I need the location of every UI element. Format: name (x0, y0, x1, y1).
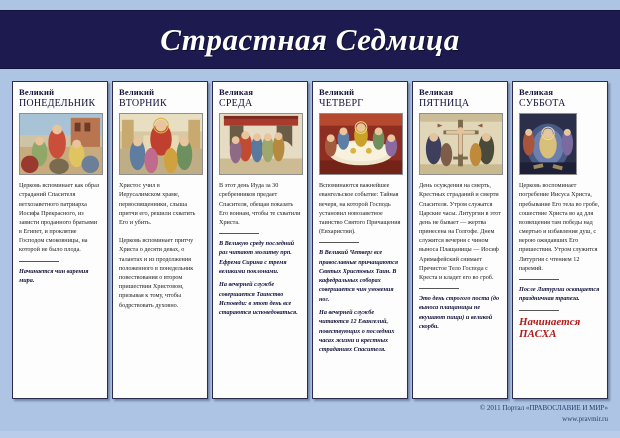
bottom-margin-strip (0, 431, 620, 438)
day-note-1: В Великую среду последний раз читают мол… (219, 239, 301, 276)
divider (219, 233, 259, 234)
poster-root: Страстная Седмица Великий ПОНЕДЕЛЬНИК (0, 0, 620, 438)
copyright-text: © 2011 Портал «ПРАВОСЛАВИЕ И МИР» (480, 403, 608, 414)
day-description: Христос учил в Иерусалимском храме, перв… (119, 181, 201, 309)
day-card-friday[interactable]: Великая ПЯТНИЦА (412, 81, 508, 399)
day-qualifier: Великий (19, 88, 101, 98)
day-name: ПОНЕДЕЛЬНИК (19, 98, 101, 110)
day-card-saturday[interactable]: Великая СУББОТА (512, 81, 608, 399)
day-name: СУББОТА (519, 98, 601, 110)
divider (19, 261, 59, 262)
day-card-thursday[interactable]: Великий ЧЕТВЕРГ (312, 81, 408, 399)
divider (419, 288, 459, 289)
day-columns: Великий ПОНЕДЕЛЬНИК (0, 69, 620, 399)
footer: © 2011 Портал «ПРАВОСЛАВИЕ И МИР» www.pr… (480, 403, 608, 424)
day-heading: Великий ЧЕТВЕРГ (319, 88, 401, 109)
day-qualifier: Великий (319, 88, 401, 98)
day-qualifier: Великая (519, 88, 601, 98)
day-description: День осуждения на смерть, Крестных страд… (419, 181, 501, 282)
day-note-2: На вечерней службе совершается Таинство … (219, 280, 301, 317)
day-description: Вспоминаются важнейшее евангельское собы… (319, 181, 401, 236)
day-description: В этот день Иуда за 30 сребренников пред… (219, 181, 301, 227)
page-title: Страстная Седмица (160, 22, 460, 58)
divider (519, 279, 559, 280)
day-note-1: В Великий Четверг все православные прича… (319, 248, 401, 304)
mystical-supper-last-supper-icon (319, 113, 403, 175)
day-card-monday[interactable]: Великий ПОНЕДЕЛЬНИК (12, 81, 108, 399)
top-margin-strip (0, 0, 620, 10)
day-qualifier: Великая (219, 88, 301, 98)
pascha-announcement: Начинается ПАСХА (519, 316, 601, 341)
divider (319, 242, 359, 243)
website-url[interactable]: www.pravmir.ru (480, 414, 608, 425)
day-heading: Великий ВТОРНИК (119, 88, 201, 109)
day-note: Начинается чин варения мира. (19, 267, 101, 286)
day-note: Это день строгого поста (до выноса плаща… (419, 294, 501, 331)
title-bar: Страстная Седмица (0, 10, 620, 69)
day-description: Церковь вспоминает как образ страданий С… (19, 181, 101, 254)
divider-2 (519, 310, 559, 311)
crucifixion-icon (419, 113, 503, 175)
day-card-tuesday[interactable]: Великий ВТОРНИК (112, 81, 208, 399)
day-heading: Великая СУББОТА (519, 88, 601, 109)
day-name: СРЕДА (219, 98, 301, 110)
day-note-2: На вечерней службе читаются 12 Евангелий… (319, 308, 401, 354)
betrayal-of-judas-thirty-pieces-of-silver-icon (219, 113, 303, 175)
harrowing-of-hades-resurrection-icon (519, 113, 577, 175)
day-note: После Литургии освящается праздничная тр… (519, 285, 601, 304)
day-name: ПЯТНИЦА (419, 98, 501, 110)
christ-teaching-in-the-temple-icon (119, 113, 203, 175)
day-qualifier: Великий (119, 88, 201, 98)
day-heading: Великая ПЯТНИЦА (419, 88, 501, 109)
day-description: Церковь воспоминает погребение Иисуса Хр… (519, 181, 601, 273)
day-card-wednesday[interactable]: Великая СРЕДА (212, 81, 308, 399)
day-heading: Великая СРЕДА (219, 88, 301, 109)
joseph-the-beautiful-sold-by-brothers-icon (19, 113, 103, 175)
day-name: ЧЕТВЕРГ (319, 98, 401, 110)
day-qualifier: Великая (419, 88, 501, 98)
day-heading: Великий ПОНЕДЕЛЬНИК (19, 88, 101, 109)
day-name: ВТОРНИК (119, 98, 201, 110)
